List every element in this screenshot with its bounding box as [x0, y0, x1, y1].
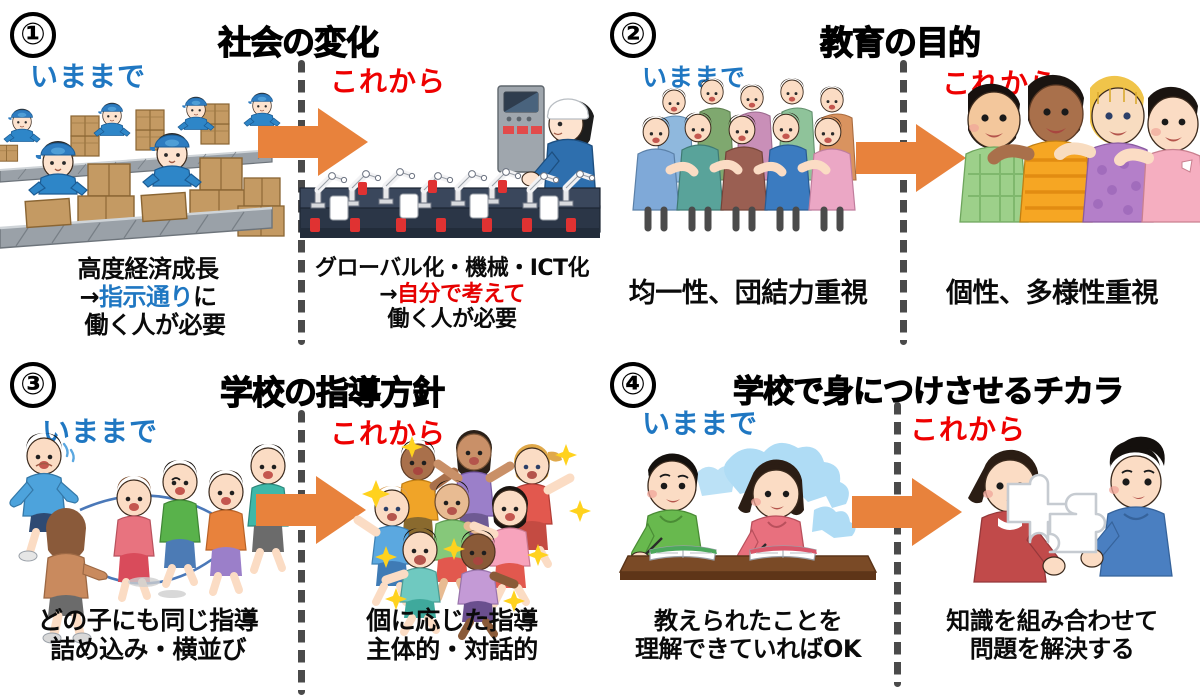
- caption-line: どの子にも同じ指導: [0, 606, 296, 635]
- arrow-icon-2: [856, 124, 966, 192]
- caption-line: 主体的・対話的: [304, 635, 600, 664]
- caption-line: →指示通りに: [0, 284, 296, 312]
- art-jigsaw-collaboration: [968, 437, 1172, 582]
- past-tag-4: いままで: [642, 402, 758, 442]
- art-uniform-crowd: [633, 78, 856, 228]
- caption-line: 教えられたことを: [600, 608, 896, 636]
- panel-4-skills-to-develop: ④ 学校で身につけさせるチカラ いままで これから: [600, 350, 1200, 700]
- caption-line: 高度経済成長: [0, 256, 296, 284]
- art-robot-line: [300, 86, 600, 238]
- panel-3-school-guidance-policy: ③ 学校の指導方針 いままで これから: [0, 350, 600, 700]
- caption-past-1: 高度経済成長 →指示通りに 働く人が必要: [0, 256, 296, 339]
- art-students-studying: [620, 443, 876, 580]
- caption-future-4: 知識を組み合わせて 問題を解決する: [904, 608, 1200, 664]
- caption-future-2: 個性、多様性重視: [904, 278, 1200, 309]
- caption-past-2: 均一性、団結力重視: [600, 278, 896, 309]
- caption-future-3: 個に応じた指導 主体的・対話的: [304, 606, 600, 664]
- caption-line: 個性、多様性重視: [904, 278, 1200, 309]
- illustration-area-3: [0, 422, 600, 608]
- illustration-area-4: [600, 438, 1200, 608]
- panel-title-3: 学校の指導方針: [32, 366, 632, 414]
- caption-line: グローバル化・機械・ICT化: [304, 256, 600, 282]
- illustration-area-1: [0, 78, 600, 258]
- caption-line: 個に応じた指導: [304, 606, 600, 635]
- arrow-icon-1: [258, 108, 368, 176]
- art-diverse-group: [960, 75, 1200, 222]
- caption-line: 理解できていればOK: [600, 636, 896, 664]
- caption-line: →自分で考えて: [304, 282, 600, 308]
- caption-line: 問題を解決する: [904, 636, 1200, 664]
- caption-line: 詰め込み・横並び: [0, 635, 296, 664]
- panel-1-social-change: ① 社会の変化 いままで これから: [0, 0, 600, 350]
- caption-line: 働く人が必要: [304, 307, 600, 333]
- caption-past-4: 教えられたことを 理解できていればOK: [600, 608, 896, 664]
- art-factory-workers: [0, 93, 284, 248]
- infographic-board: ① 社会の変化 いままで これから: [0, 0, 1200, 700]
- caption-future-1: グローバル化・機械・ICT化 →自分で考えて 働く人が必要: [304, 256, 600, 333]
- caption-line: 均一性、団結力重視: [600, 278, 896, 309]
- panel-2-purpose-of-education: ② 教育の目的 いままで これから: [600, 0, 1200, 350]
- illustration-area-2: [600, 58, 1200, 258]
- caption-past-3: どの子にも同じ指導 詰め込み・横並び: [0, 606, 296, 664]
- caption-line: 知識を組み合わせて: [904, 608, 1200, 636]
- panel-title-2: 教育の目的: [600, 16, 1200, 64]
- caption-line: 働く人が必要: [0, 312, 296, 340]
- arrow-icon-4: [852, 478, 962, 546]
